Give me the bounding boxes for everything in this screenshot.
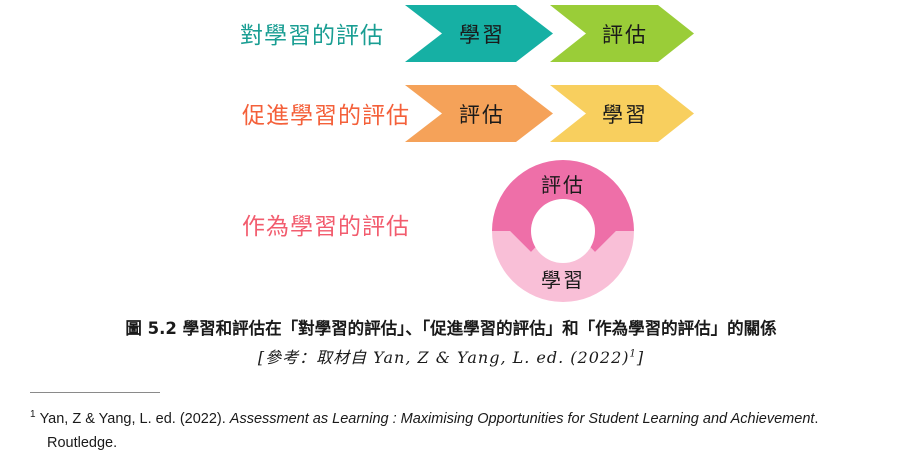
figure-caption-title: 圖 5.2 學習和評估在「對學習的評估」、「促進學習的評估」和「作為學習的評估」… — [0, 318, 902, 340]
chevron-label: 學習 — [602, 99, 648, 129]
row-label-assessment-as-learning: 作為學習的評估 — [242, 207, 410, 241]
row-label-assessment-for-learning: 促進學習的評估 — [242, 96, 410, 130]
cycle-hole-shape — [531, 199, 595, 263]
cycle-donut-diagram: 評估 學習 — [490, 160, 636, 302]
cycle-label-bottom: 學習 — [490, 264, 636, 293]
row-label-assessment-of-learning: 對學習的評估 — [240, 16, 384, 50]
footnote-block: 1Yan, Z & Yang, L. ed. (2022). Assessmen… — [30, 392, 890, 455]
chevron-stage-assessment: 評估 — [550, 5, 694, 62]
footnote-separator — [30, 392, 160, 393]
footnote-title: Assessment as Learning : Maximising Oppo… — [230, 411, 815, 427]
chevron-stage-assessment: 評估 — [405, 85, 553, 142]
figure-caption-source-prefix: [參考：取材自 Yan, Z & Yang, L. ed. (2022) — [258, 348, 630, 367]
diagram-row-assessment-of-learning: 對學習的評估 學習 評估 — [0, 0, 902, 70]
footnote-marker: 1 — [30, 409, 40, 420]
diagram-row-assessment-as-learning: 作為學習的評估 評估 學習 — [0, 152, 902, 310]
figure-caption: 圖 5.2 學習和評估在「對學習的評估」、「促進學習的評估」和「作為學習的評估」… — [0, 318, 902, 368]
chevron-label: 評估 — [459, 99, 505, 129]
cycle-label-top: 評估 — [490, 169, 636, 198]
figure-caption-footnote-marker: 1 — [630, 349, 637, 360]
figure-caption-source-suffix: ] — [637, 348, 644, 367]
footnote-authors: Yan, Z & Yang, L. ed. (2022). — [40, 411, 230, 427]
chevron-stage-learning: 學習 — [550, 85, 694, 142]
diagram-row-assessment-for-learning: 促進學習的評估 評估 學習 — [0, 80, 902, 150]
chevron-label: 學習 — [459, 19, 505, 49]
chevron-label: 評估 — [602, 19, 648, 49]
figure-diagram: 對學習的評估 學習 評估 促進學習的評估 評估 學習 — [0, 0, 902, 310]
footnote-text: 1Yan, Z & Yang, L. ed. (2022). Assessmen… — [30, 403, 890, 455]
chevron-stage-learning: 學習 — [405, 5, 553, 62]
figure-caption-source: [參考：取材自 Yan, Z & Yang, L. ed. (2022)1] — [0, 344, 902, 368]
